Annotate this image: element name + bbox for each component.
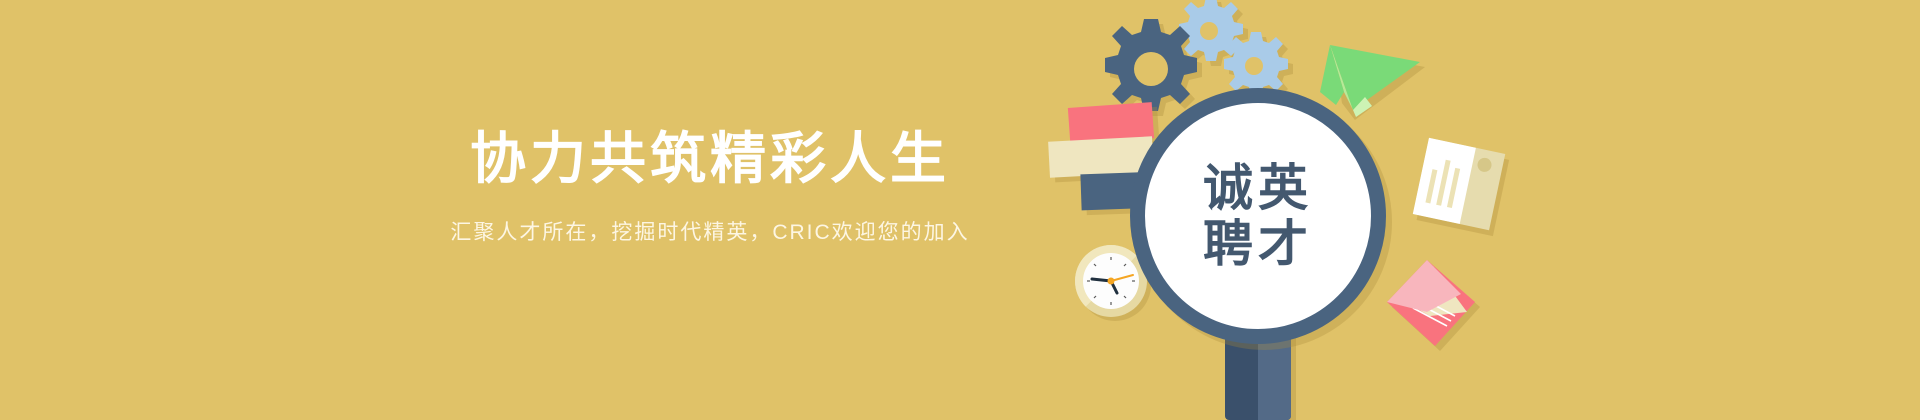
magnifier-text-line-2: 聘才 — [1203, 216, 1313, 272]
magnifier-lens: 诚英 聘才 — [1130, 88, 1386, 344]
magnifier-text-line-1: 诚英 — [1203, 160, 1313, 216]
magnifying-glass-icon: 诚英 聘才 — [1020, 0, 1540, 420]
page-subtitle: 汇聚人才所在，挖掘时代精英，CRIC欢迎您的加入 — [400, 216, 1020, 246]
banner-text-block: 协力共筑精彩人生 汇聚人才所在，挖掘时代精英，CRIC欢迎您的加入 — [400, 128, 1020, 246]
page-title: 协力共筑精彩人生 — [400, 128, 1020, 190]
banner-illustration: 诚英 聘才 — [1020, 0, 1540, 420]
recruitment-banner: 协力共筑精彩人生 汇聚人才所在，挖掘时代精英，CRIC欢迎您的加入 — [0, 0, 1920, 420]
